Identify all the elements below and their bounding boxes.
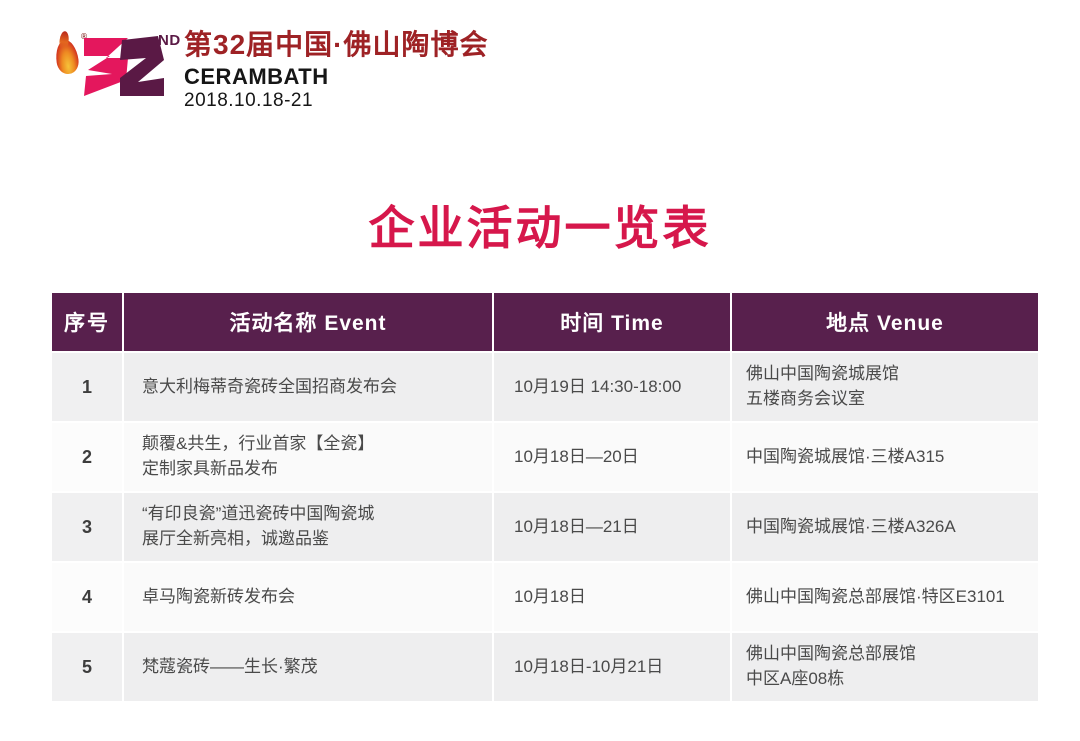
table-row: 1 意大利梅蒂奇瓷砖全国招商发布会 10月19日 14:30-18:00 佛山中… xyxy=(52,353,1038,421)
cell-venue: 佛山中国陶瓷总部展馆·特区E3101 xyxy=(732,563,1038,631)
column-header-event: 活动名称 Event xyxy=(124,293,492,351)
cell-time: 10月18日—20日 xyxy=(494,423,730,491)
cell-event: “有印良瓷”道迅瓷砖中国陶瓷城 展厅全新亮相，诚邀品鉴 xyxy=(124,493,492,561)
cell-event-line: 卓马陶瓷新砖发布会 xyxy=(142,585,492,610)
table-header: 序号 活动名称 Event 时间 Time 地点 Venue xyxy=(52,293,1038,351)
cell-event-line: 展厅全新亮相，诚邀品鉴 xyxy=(142,527,492,552)
events-table: 序号 活动名称 Event 时间 Time 地点 Venue 1 意大利梅蒂奇瓷… xyxy=(50,291,1040,703)
brand-cn-title: 第32届中国·佛山陶博会 xyxy=(184,30,488,61)
cell-venue-line: 佛山中国陶瓷城展馆 xyxy=(746,362,1038,387)
table-body: 1 意大利梅蒂奇瓷砖全国招商发布会 10月19日 14:30-18:00 佛山中… xyxy=(52,353,1038,701)
cell-no: 2 xyxy=(52,423,122,491)
cell-no: 3 xyxy=(52,493,122,561)
cell-venue-line: 中国陶瓷城展馆·三楼A326A xyxy=(746,515,1038,540)
cell-time: 10月18日 xyxy=(494,563,730,631)
cell-time: 10月19日 14:30-18:00 xyxy=(494,353,730,421)
cell-venue-line: 中国陶瓷城展馆·三楼A315 xyxy=(746,445,1038,470)
cell-no: 1 xyxy=(52,353,122,421)
table-row: 5 梵蔻瓷砖——生长·繁茂 10月18日-10月21日 佛山中国陶瓷总部展馆 中… xyxy=(52,633,1038,701)
cell-venue-line: 佛山中国陶瓷总部展馆 xyxy=(746,642,1038,667)
cell-event: 卓马陶瓷新砖发布会 xyxy=(124,563,492,631)
table-row: 3 “有印良瓷”道迅瓷砖中国陶瓷城 展厅全新亮相，诚邀品鉴 10月18日—21日… xyxy=(52,493,1038,561)
cell-venue-line: 佛山中国陶瓷总部展馆·特区E3101 xyxy=(746,585,1038,610)
table-row: 4 卓马陶瓷新砖发布会 10月18日 佛山中国陶瓷总部展馆·特区E3101 xyxy=(52,563,1038,631)
cell-event-line: 意大利梅蒂奇瓷砖全国招商发布会 xyxy=(142,375,492,400)
brand-text-block: 第32届中国·佛山陶博会 CERAMBATH 2018.10.18-21 xyxy=(184,28,488,112)
cell-venue: 中国陶瓷城展馆·三楼A326A xyxy=(732,493,1038,561)
flame-icon: ® xyxy=(52,34,86,82)
table-header-row: 序号 活动名称 Event 时间 Time 地点 Venue xyxy=(52,293,1038,351)
logo-ordinal-suffix: ND xyxy=(158,32,181,49)
table-row: 2 颠覆&共生，行业首家【全瓷】 定制家具新品发布 10月18日—20日 中国陶… xyxy=(52,423,1038,491)
cell-venue: 佛山中国陶瓷城展馆 五楼商务会议室 xyxy=(732,353,1038,421)
cell-event-line: “有印良瓷”道迅瓷砖中国陶瓷城 xyxy=(142,502,492,527)
cerambath-logo-mark: ® ND xyxy=(50,28,176,106)
cell-time: 10月18日-10月21日 xyxy=(494,633,730,701)
cell-venue: 中国陶瓷城展馆·三楼A315 xyxy=(732,423,1038,491)
brand-en-title: CERAMBATH xyxy=(184,64,488,89)
events-table-wrapper: 序号 活动名称 Event 时间 Time 地点 Venue 1 意大利梅蒂奇瓷… xyxy=(50,291,1030,703)
cell-venue-line: 五楼商务会议室 xyxy=(746,387,1038,412)
column-header-time: 时间 Time xyxy=(494,293,730,351)
cell-event-line: 颠覆&共生，行业首家【全瓷】 xyxy=(142,432,492,457)
cell-event: 意大利梅蒂奇瓷砖全国招商发布会 xyxy=(124,353,492,421)
cell-event: 梵蔻瓷砖——生长·繁茂 xyxy=(124,633,492,701)
cell-event: 颠覆&共生，行业首家【全瓷】 定制家具新品发布 xyxy=(124,423,492,491)
column-header-no: 序号 xyxy=(52,293,122,351)
cell-no: 4 xyxy=(52,563,122,631)
brand-date-range: 2018.10.18-21 xyxy=(184,90,488,112)
page-title: 企业活动一览表 xyxy=(0,192,1080,258)
cell-event-line: 定制家具新品发布 xyxy=(142,457,492,482)
cell-event-line: 梵蔻瓷砖——生长·繁茂 xyxy=(142,655,492,680)
cell-venue-line: 中区A座08栋 xyxy=(746,667,1038,692)
cell-no: 5 xyxy=(52,633,122,701)
cell-venue: 佛山中国陶瓷总部展馆 中区A座08栋 xyxy=(732,633,1038,701)
cell-time: 10月18日—21日 xyxy=(494,493,730,561)
column-header-venue: 地点 Venue xyxy=(732,293,1038,351)
brand-header: ® ND 第32届中国·佛山陶博会 CERAMBATH 2018.10.18-2… xyxy=(50,28,488,112)
